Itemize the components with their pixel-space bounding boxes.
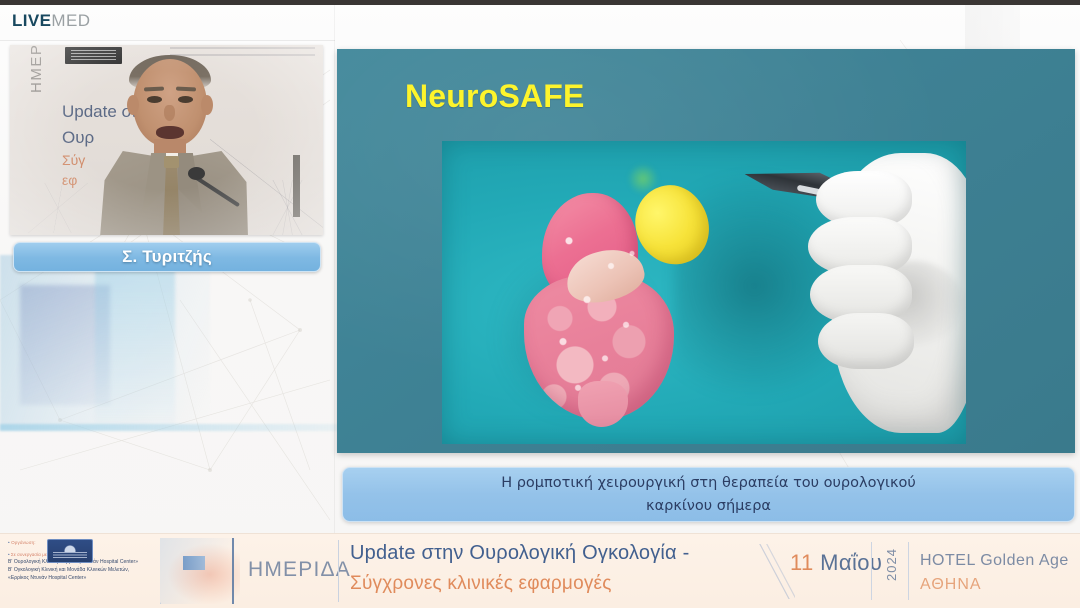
collaborator-line-2: Β' Ογκολογική Κλινική και Μονάδα Κλινικώ… — [8, 567, 158, 575]
session-title-banner: Η ρομποτική χειρουργική στη θεραπεία του… — [342, 467, 1075, 522]
event-title-line2: Σύγχρονες κλινικές εφαρμογές — [350, 569, 689, 598]
event-date-month: Μαΐου — [820, 550, 882, 575]
footer-divider-3 — [908, 542, 909, 600]
speaker-name-label: Σ. Τυριτζής — [122, 247, 212, 267]
speaker-name-banner: Σ. Τυριτζής — [13, 242, 321, 272]
event-year: 2024 — [884, 548, 899, 581]
event-date-day: 11 — [790, 550, 814, 575]
gloved-hand — [794, 143, 966, 443]
event-title-line1: Update στην Ουρολογική Ογκολογία - — [350, 538, 689, 569]
livemed-logo: LIVEMED — [12, 11, 90, 31]
background-accent-shape-light — [95, 265, 175, 425]
event-footer: Οργάνωση: Σε συνεργασία με Β' Ουρολογική… — [0, 533, 1080, 608]
footer-divider-1 — [338, 540, 339, 602]
session-title-line2: καρκίνου σήμερα — [646, 495, 771, 517]
window-top-frame — [0, 0, 1080, 5]
glove-finger-4 — [818, 313, 914, 369]
session-title-line1: Η ρομποτική χειρουργική στη θεραπεία του… — [501, 472, 916, 494]
specimen-photo — [442, 141, 966, 444]
background-divider — [334, 0, 335, 533]
footer-slash-graphic — [755, 544, 795, 599]
logo-text-live: LIVE — [12, 11, 51, 30]
footer-divider-2 — [871, 542, 872, 600]
event-date: 11 Μαΐου — [790, 550, 882, 576]
webcast-player: LIVEMED ΗΜΕΡΙΔΑ Update σι Ουρ Σύγ εφ — [0, 0, 1080, 608]
footer-graphic-vertical-line — [232, 538, 234, 604]
venue-block: HOTEL Golden Age ΑΘΗΝΑ — [920, 549, 1069, 597]
background-gray-band — [965, 5, 1020, 51]
background-horizontal-stripe — [0, 424, 340, 431]
venue-city: ΑΘΗΝΑ — [920, 573, 1069, 597]
slide-title: NeuroSAFE — [405, 78, 585, 115]
footer-graphic-bar — [183, 556, 205, 570]
footer-abstract-graphic — [160, 538, 240, 604]
header-divider — [0, 40, 335, 41]
speaker-video-feed[interactable]: ΗΜΕΡΙΔΑ Update σι Ουρ Σύγ εφ — [10, 45, 323, 235]
event-title-block: Update στην Ουρολογική Ογκολογία - Σύγχρ… — [350, 538, 689, 598]
logo-text-med: MED — [51, 11, 90, 30]
event-type-label: ΗΜΕΡΙΔΑ — [248, 558, 351, 582]
venue-name: HOTEL Golden Age — [920, 549, 1069, 573]
video-vignette — [10, 45, 323, 235]
collaborator-line-3: «Ερρίκος Ντυνάν Hospital Center» — [8, 575, 158, 583]
organizer-crest-logo — [47, 539, 93, 563]
presentation-slide[interactable]: NeuroSAFE — [337, 49, 1075, 453]
